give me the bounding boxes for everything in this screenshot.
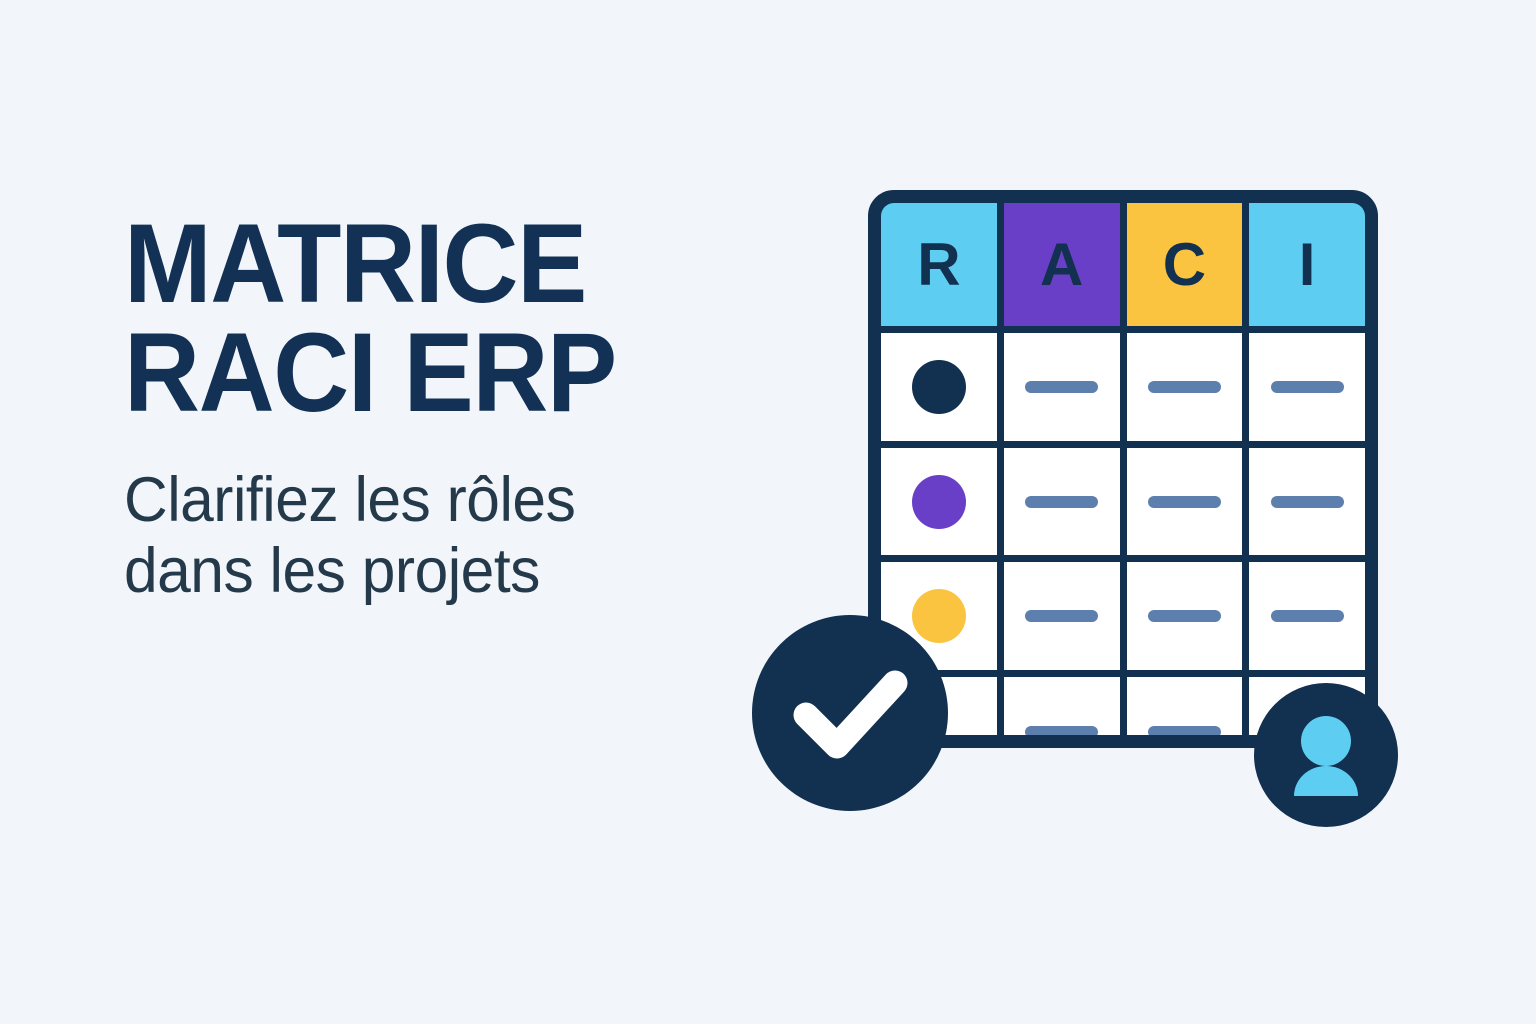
matrix-cell (1004, 333, 1120, 441)
placeholder-dash-icon (1025, 726, 1098, 738)
placeholder-dash-icon (1271, 610, 1344, 622)
placeholder-dash-icon (1025, 496, 1098, 508)
poster-canvas: MATRICE RACI ERP Clarifiez les rôles dan… (0, 0, 1536, 1024)
placeholder-dash-icon (1148, 726, 1221, 738)
matrix-row-label-cell (881, 448, 997, 555)
matrix-cell (1004, 677, 1120, 748)
page-subtitle: Clarifiez les rôles dans les projets (124, 427, 758, 606)
matrix-grid: R A C I (881, 203, 1365, 735)
matrix-cell (1127, 448, 1243, 555)
placeholder-dash-icon (1271, 381, 1344, 393)
placeholder-dash-icon (1025, 381, 1098, 393)
matrix-header-cell-r: R (881, 203, 997, 326)
placeholder-dash-icon (1148, 381, 1221, 393)
placeholder-dash-icon (1271, 496, 1344, 508)
checkmark-icon (752, 615, 948, 811)
placeholder-dash-icon (1148, 496, 1221, 508)
matrix-row-label-cell (881, 333, 997, 441)
role-dot-icon (912, 475, 966, 529)
matrix-cell (1127, 333, 1243, 441)
page-title: MATRICE RACI ERP (124, 210, 744, 427)
matrix-cell (1127, 677, 1243, 748)
matrix-header-cell-a: A (1004, 203, 1120, 326)
matrix-cell (1004, 562, 1120, 670)
matrix-cell (1004, 448, 1120, 555)
check-badge (752, 615, 948, 811)
matrix-cell (1249, 562, 1365, 670)
user-icon (1254, 683, 1398, 827)
placeholder-dash-icon (1148, 610, 1221, 622)
role-dot-icon (912, 360, 966, 414)
matrix-cell (1249, 333, 1365, 441)
headline-block: MATRICE RACI ERP Clarifiez les rôles dan… (124, 210, 784, 606)
matrix-cell (1127, 562, 1243, 670)
matrix-cell (1249, 448, 1365, 555)
person-badge (1254, 683, 1398, 827)
placeholder-dash-icon (1025, 610, 1098, 622)
matrix-header-cell-i: I (1249, 203, 1365, 326)
matrix-header-cell-c: C (1127, 203, 1243, 326)
